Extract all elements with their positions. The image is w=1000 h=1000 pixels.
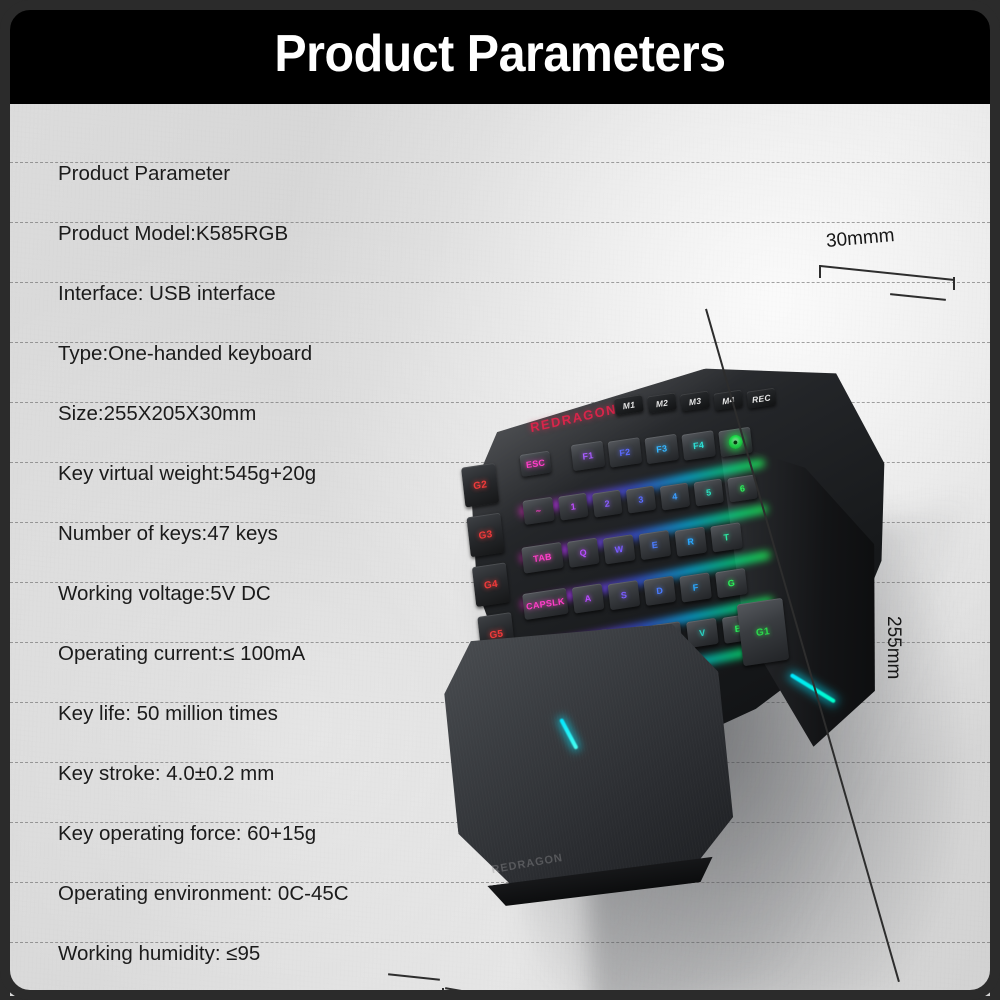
spec-row: Working voltage:5V DC — [58, 564, 488, 624]
keycap-label: A — [584, 593, 592, 604]
keycap-label: R — [687, 536, 695, 547]
keycap-label: E — [651, 540, 658, 551]
spec-list: Product ParameterProduct Model:K585RGBIn… — [58, 144, 488, 984]
keycap-label: W — [614, 544, 624, 555]
keycap-label: CAPSLK — [526, 596, 566, 612]
keycap-t[interactable]: T — [710, 522, 743, 552]
keycap-label: G3 — [478, 528, 493, 541]
keycap-label: F1 — [582, 450, 594, 462]
keyboard-photo: REDRAGON M1M2M3M4RECESCF1F2F3F4●~123456T… — [430, 224, 990, 996]
keycap-f2[interactable]: F2 — [608, 437, 643, 468]
keycap-g4[interactable]: G4 — [472, 562, 510, 607]
keycap-label: Q — [579, 548, 587, 559]
keycap-label: 6 — [739, 483, 745, 494]
dimension-tick — [890, 293, 946, 300]
keycap-label: F4 — [693, 440, 705, 452]
keycap-label: M2 — [655, 397, 668, 409]
keycap-label: S — [620, 590, 627, 601]
keycap-label: G1 — [755, 626, 770, 639]
keycap-d[interactable]: D — [643, 576, 676, 606]
spec-row: Key virtual weight:545g+20g — [58, 444, 488, 504]
dimension-tick — [442, 988, 444, 996]
dimension-line-depth — [820, 265, 954, 281]
spec-row: Key operating force: 60+15g — [58, 804, 488, 864]
header-bar: Product Parameters — [10, 4, 990, 104]
spec-row: Size:255X205X30mm — [58, 384, 488, 444]
keycap-4[interactable]: 4 — [660, 482, 690, 510]
keycap-q[interactable]: Q — [567, 538, 600, 568]
page-title: Product Parameters — [44, 4, 955, 104]
spec-row: Key life: 50 million times — [58, 684, 488, 744]
keycap-5[interactable]: 5 — [694, 478, 724, 506]
keycap-label: 4 — [672, 491, 678, 502]
keycap-label: 2 — [604, 498, 610, 509]
keycap-label: TAB — [533, 551, 553, 564]
spec-sheet: Product ParameterProduct Model:K585RGBIn… — [10, 104, 990, 996]
keycap-label: ESC — [525, 457, 545, 470]
dimension-label-height: 255mm — [882, 616, 904, 679]
wrist-rest: REDRAGON — [431, 600, 768, 929]
keycap-g[interactable]: G — [715, 568, 748, 598]
dimension-tick — [953, 277, 955, 290]
spec-row: Product Parameter — [58, 144, 488, 204]
spec-row: Number of keys:47 keys — [58, 504, 488, 564]
keycap-f4[interactable]: F4 — [681, 430, 716, 461]
keycap-r[interactable]: R — [674, 526, 707, 556]
spec-row: Type:One-handed keyboard — [58, 324, 488, 384]
keycap-[interactable]: ~ — [522, 497, 554, 525]
spec-row: Key stroke: 4.0±0.2 mm — [58, 744, 488, 804]
keycap-2[interactable]: 2 — [592, 489, 622, 517]
spec-row: Operating environment: 0C-45C — [58, 864, 488, 924]
keycap-a[interactable]: A — [572, 584, 605, 614]
keycap-label: F3 — [656, 443, 668, 455]
keycap-label: 3 — [638, 494, 644, 505]
keycap-label: T — [723, 532, 730, 543]
keycap-1[interactable]: 1 — [558, 493, 588, 521]
keycap-g1[interactable]: G1 — [737, 598, 790, 666]
spec-row: Working humidity: ≤95 — [58, 924, 488, 984]
keycap-s[interactable]: S — [608, 580, 641, 610]
keycap-label: 5 — [706, 487, 712, 498]
keycap-label: G4 — [483, 578, 498, 591]
keycap-label: 1 — [570, 502, 576, 513]
keycap-esc[interactable]: ESC — [520, 451, 552, 477]
keycap-label: D — [656, 586, 664, 597]
keycap-label: F2 — [619, 447, 631, 459]
keycap-g3[interactable]: G3 — [466, 513, 504, 558]
spec-row: Interface: USB interface — [58, 264, 488, 324]
keycap-label: REC — [751, 392, 771, 405]
spec-row: Product Model:K585RGB — [58, 204, 488, 264]
keycap-label: M3 — [688, 396, 701, 408]
keycap-label: M1 — [622, 399, 635, 411]
keycap-f3[interactable]: F3 — [644, 434, 679, 465]
spec-row: Operating current:≤ 100mA — [58, 624, 488, 684]
keycap-label: G — [727, 578, 735, 589]
keycap-3[interactable]: 3 — [626, 486, 656, 514]
keycap-label: F — [692, 582, 699, 593]
keycap-label: ~ — [535, 505, 542, 516]
keycap-w[interactable]: W — [603, 534, 636, 564]
keycap-g2[interactable]: G2 — [461, 463, 499, 508]
dimension-label-depth: 30mmm — [825, 225, 895, 253]
product-parameters-image: Product Parameters Product ParameterProd… — [0, 0, 1000, 1000]
keycap-label: G2 — [473, 479, 488, 492]
dimension-tick — [819, 265, 821, 278]
keycap-e[interactable]: E — [639, 530, 672, 560]
keycap-f[interactable]: F — [679, 572, 712, 602]
keycap-f1[interactable]: F1 — [571, 441, 606, 472]
